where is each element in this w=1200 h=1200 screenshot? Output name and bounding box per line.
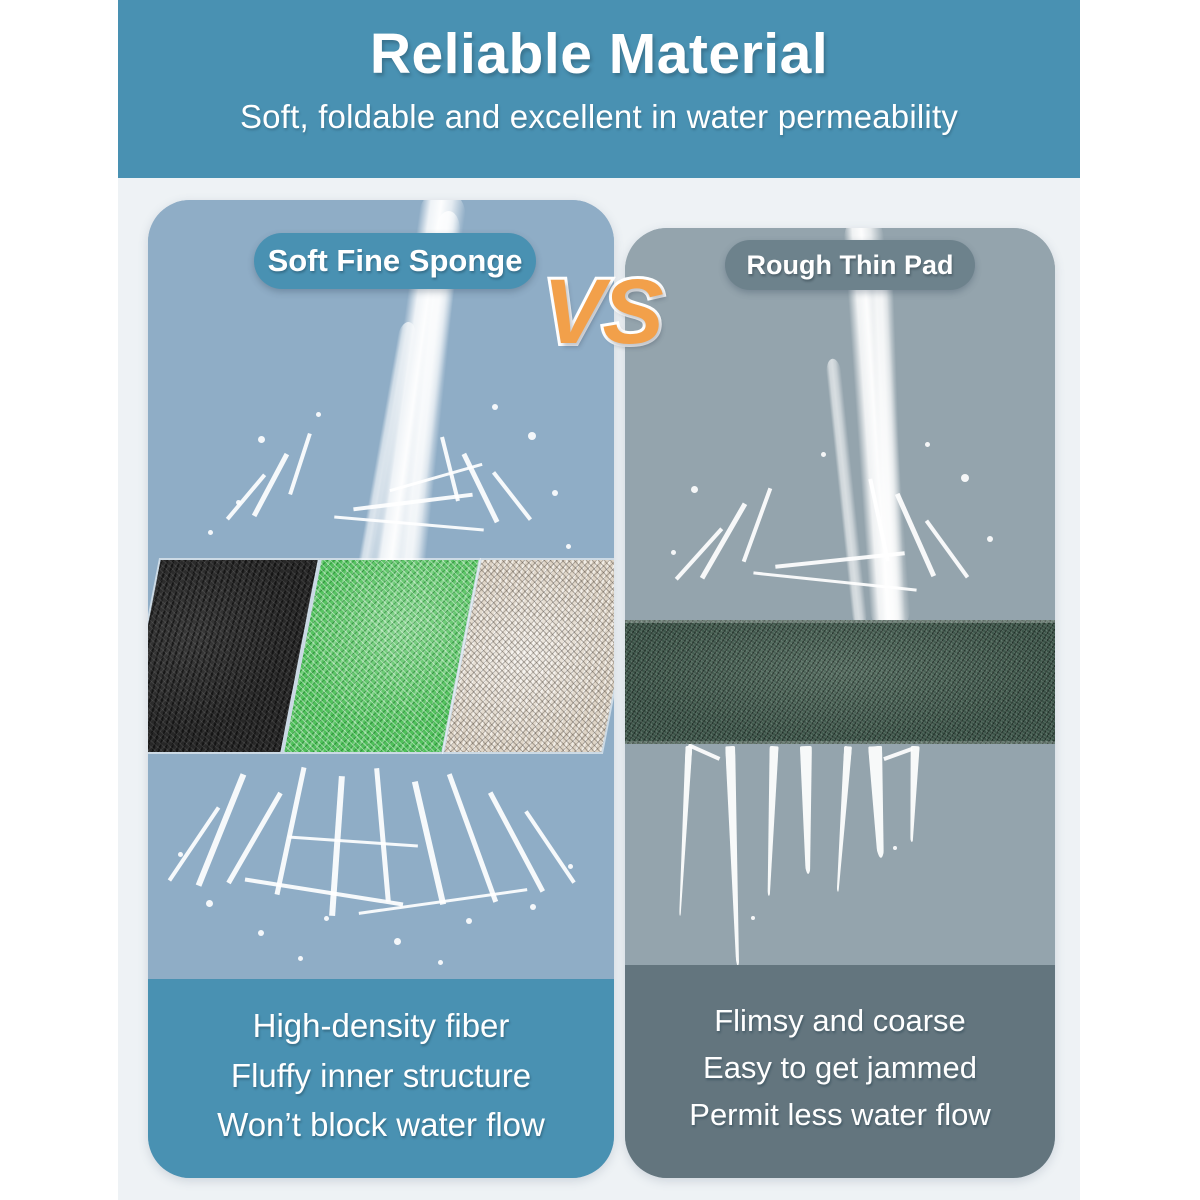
feature-panel-left: High-density fiber Fluffy inner structur… <box>148 979 614 1178</box>
feature-line: Fluffy inner structure <box>231 1054 531 1098</box>
sponge-pad-group <box>148 560 614 752</box>
feature-line: Easy to get jammed <box>703 1048 977 1089</box>
vs-label: VS <box>543 266 662 358</box>
comparison-canvas: Soft Fine Sponge High-density fiber Fluf… <box>118 178 1080 1200</box>
page-subtitle: Soft, foldable and excellent in water pe… <box>118 98 1080 136</box>
badge-soft-fine-sponge: Soft Fine Sponge <box>254 233 536 289</box>
header-band: Reliable Material Soft, foldable and exc… <box>118 0 1080 178</box>
product-comparison-infographic: Reliable Material Soft, foldable and exc… <box>0 0 1200 1200</box>
feature-line: Permit less water flow <box>689 1095 990 1136</box>
badge-rough-thin-pad: Rough Thin Pad <box>725 240 975 290</box>
feature-line: High-density fiber <box>253 1004 510 1048</box>
badge-right-label: Rough Thin Pad <box>747 250 954 281</box>
feature-line: Flimsy and coarse <box>714 1001 966 1042</box>
feature-panel-right: Flimsy and coarse Easy to get jammed Per… <box>625 965 1055 1178</box>
comparison-card-right: Rough Thin Pad Flimsy and coarse Easy to… <box>625 228 1055 1178</box>
water-scene-right <box>625 228 1055 965</box>
dark-green-scouring-pad <box>625 620 1055 744</box>
feature-line: Won’t block water flow <box>217 1103 545 1147</box>
badge-left-label: Soft Fine Sponge <box>268 243 523 279</box>
page-title: Reliable Material <box>118 22 1080 88</box>
